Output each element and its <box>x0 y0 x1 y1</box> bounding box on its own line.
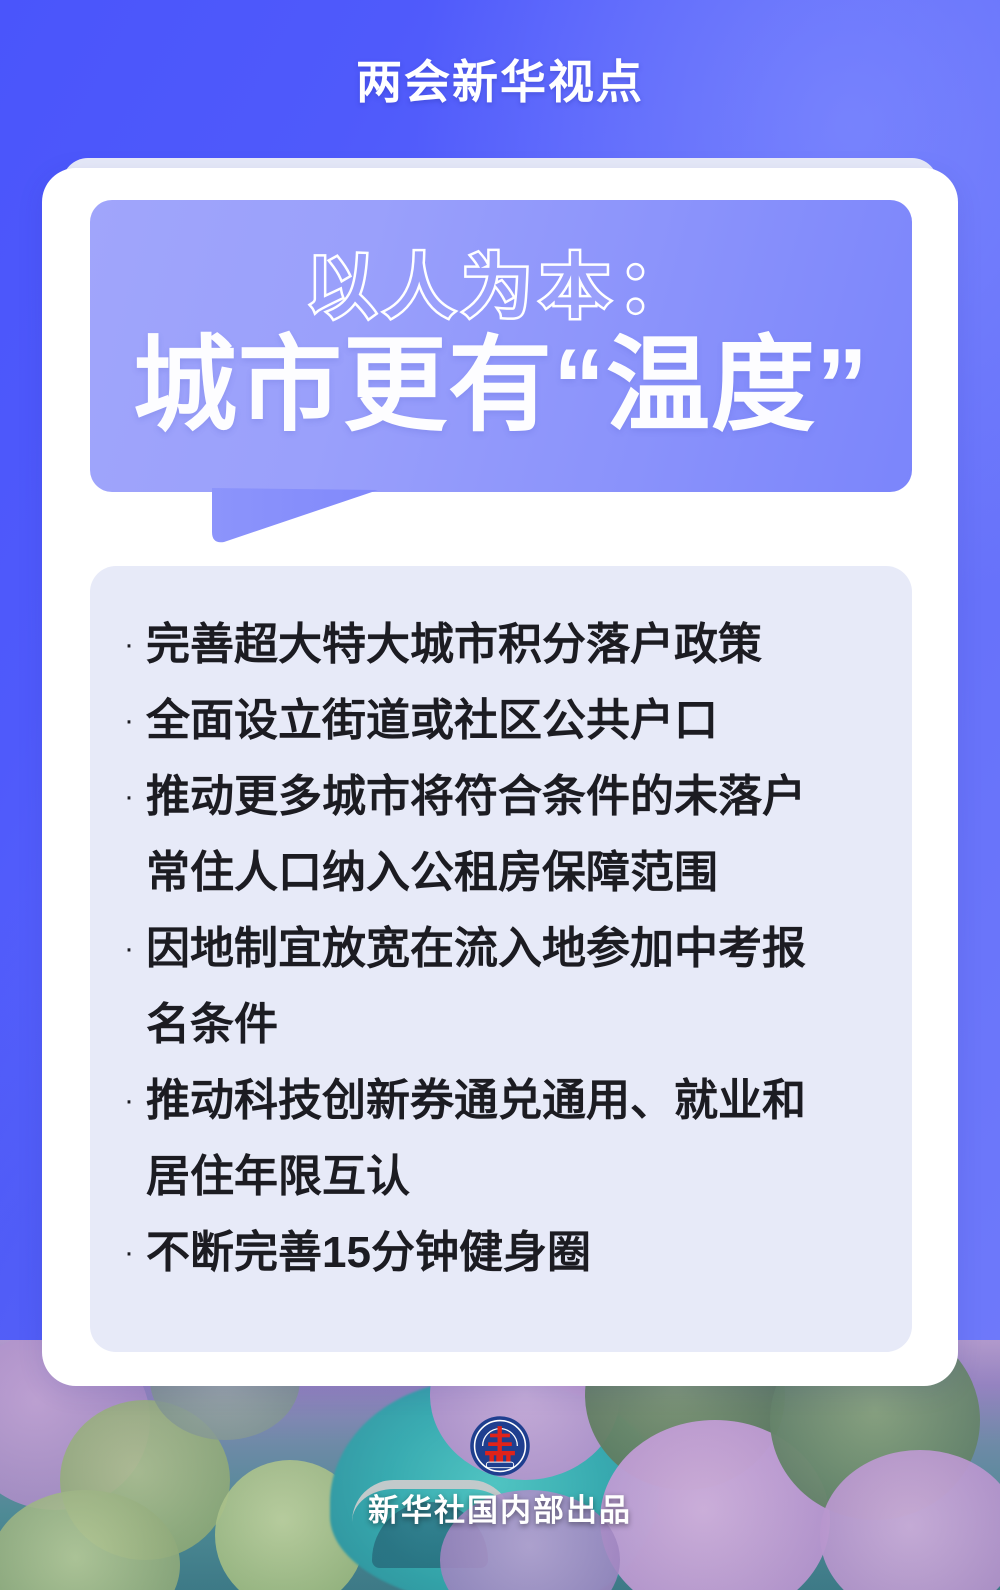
speech-bubble-tail <box>212 488 378 544</box>
title-line-2: 城市更有“温度” <box>133 331 869 441</box>
footer-brand: 新华社国内部出品 <box>0 1415 1000 1530</box>
bullet-dot-icon: · <box>112 760 146 834</box>
bullet-dot-icon: · <box>112 1064 146 1138</box>
list-item-label: 推动科技创新券通兑通用、就业和 <box>146 1064 878 1138</box>
list-item-label: 推动更多城市将符合条件的未落户 <box>146 760 878 834</box>
header: 两会新华视点 <box>0 0 1000 158</box>
list-item-label: 全面设立街道或社区公共户口 <box>146 684 878 758</box>
list-item-label: 完善超大特大城市积分落户政策 <box>146 608 878 682</box>
content-card: 以人为本： 城市更有“温度” ·完善超大特大城市积分落户政策·全面设立街道或社区… <box>42 168 958 1386</box>
title-bubble-wrapper: 以人为本： 城市更有“温度” <box>90 200 912 540</box>
header-title: 两会新华视点 <box>356 46 644 112</box>
bullet-list: ·完善超大特大城市积分落户政策·全面设立街道或社区公共户口·推动更多城市将符合条… <box>112 608 878 1290</box>
list-item: 常住人口纳入公租房保障范围 <box>112 836 878 910</box>
list-item: 名条件 <box>112 988 878 1062</box>
list-item-label: 居住年限互认 <box>146 1140 878 1214</box>
list-item-label: 名条件 <box>146 988 878 1062</box>
list-item: 居住年限互认 <box>112 1140 878 1214</box>
bullet-dot-icon: · <box>112 912 146 986</box>
list-item: ·不断完善15分钟健身圈 <box>112 1216 878 1290</box>
xinhua-logo-icon <box>469 1415 531 1477</box>
list-item: ·推动科技创新券通兑通用、就业和 <box>112 1064 878 1138</box>
title-bubble: 以人为本： 城市更有“温度” <box>90 200 912 492</box>
list-item: ·因地制宜放宽在流入地参加中考报 <box>112 912 878 986</box>
list-item-label: 因地制宜放宽在流入地参加中考报 <box>146 912 878 986</box>
bullet-dot-icon: · <box>112 684 146 758</box>
list-item-label: 常住人口纳入公租房保障范围 <box>146 836 878 910</box>
bullet-dot-icon: · <box>112 1216 146 1290</box>
brand-text: 新华社国内部出品 <box>368 1485 632 1530</box>
list-item-label: 不断完善15分钟健身圈 <box>146 1216 878 1290</box>
list-item: ·完善超大特大城市积分落户政策 <box>112 608 878 682</box>
list-item: ·推动更多城市将符合条件的未落户 <box>112 760 878 834</box>
bullet-dot-icon: · <box>112 608 146 682</box>
bullet-panel: ·完善超大特大城市积分落户政策·全面设立街道或社区公共户口·推动更多城市将符合条… <box>90 566 912 1352</box>
title-line-1: 以人为本： <box>306 251 696 325</box>
list-item: ·全面设立街道或社区公共户口 <box>112 684 878 758</box>
